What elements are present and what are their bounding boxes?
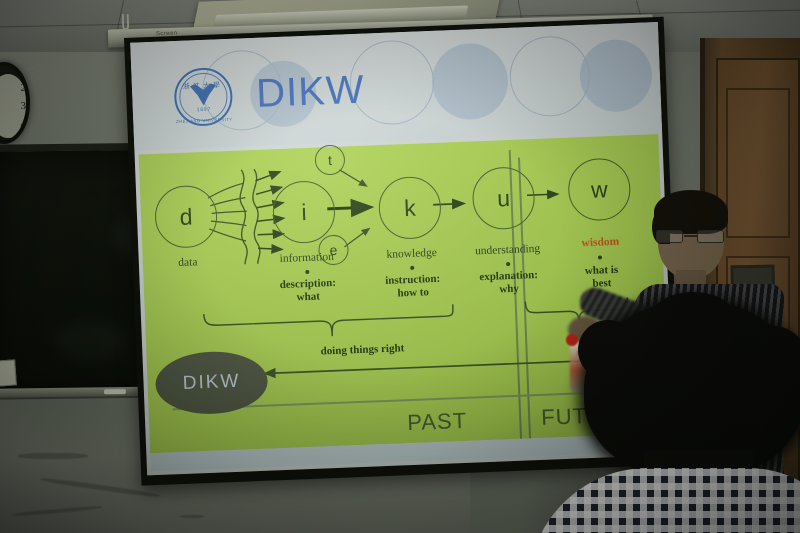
slide-title: DIKW bbox=[255, 68, 365, 117]
label-data: data bbox=[153, 255, 223, 270]
era-label-past: PAST bbox=[407, 408, 468, 436]
caption-doing-things-right: doing things right bbox=[268, 340, 456, 360]
blackboard-eraser bbox=[0, 359, 17, 386]
audience-member bbox=[548, 300, 800, 533]
node-u: u bbox=[471, 166, 535, 230]
slide-header: 浙江大學 1897 ZHEJIANG UNIVERSITY DIKW bbox=[130, 22, 662, 151]
screen-pull-hook-icon bbox=[122, 14, 129, 30]
glasses-icon bbox=[656, 230, 726, 243]
node-d: d bbox=[154, 185, 218, 249]
node-k: k bbox=[378, 176, 442, 240]
node-w: w bbox=[567, 157, 631, 221]
zhejiang-university-logo-icon: 浙江大學 1897 ZHEJIANG UNIVERSITY bbox=[173, 67, 233, 127]
sub-information: description:what bbox=[252, 276, 365, 306]
node-i: i bbox=[272, 180, 336, 244]
label-information: information bbox=[251, 250, 363, 266]
logo-year: 1897 bbox=[197, 107, 212, 114]
node-t: t bbox=[314, 144, 345, 175]
classroom-photo: 2 3 4 Screen bbox=[0, 0, 800, 533]
